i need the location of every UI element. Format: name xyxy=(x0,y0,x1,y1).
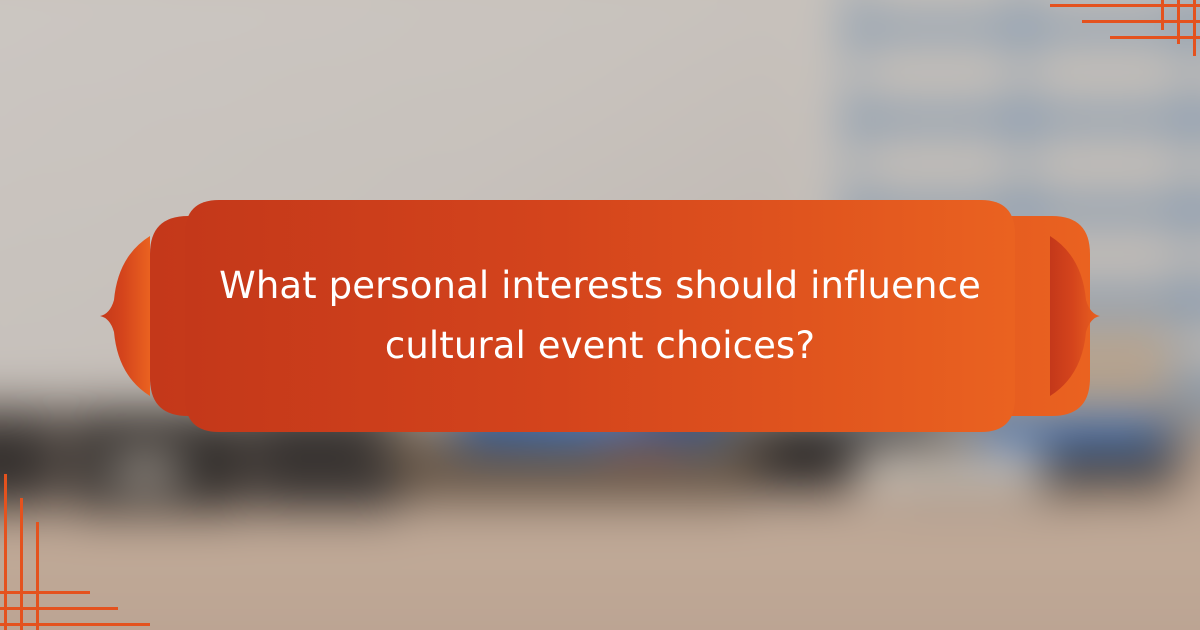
ornament-line xyxy=(1082,20,1200,23)
ornament-line xyxy=(1161,0,1164,30)
ornament-line xyxy=(0,591,90,594)
quote-text-block: What personal interests should influence… xyxy=(100,196,1100,436)
quote-card: What personal interests should influence… xyxy=(0,0,1200,630)
quote-line-2: cultural event choices? xyxy=(385,319,815,373)
ornament-line xyxy=(20,498,23,630)
ornament-line xyxy=(1193,0,1196,56)
ornament-line xyxy=(1177,0,1180,44)
ornament-line xyxy=(0,607,118,610)
ornament-line xyxy=(1110,36,1200,39)
corner-ornament-top-right xyxy=(1030,0,1200,70)
corner-ornament-bottom-left xyxy=(0,460,170,630)
ornament-line xyxy=(4,474,7,630)
ornament-line xyxy=(36,522,39,630)
quote-badge: What personal interests should influence… xyxy=(100,196,1100,436)
quote-line-1: What personal interests should influence xyxy=(219,259,981,313)
